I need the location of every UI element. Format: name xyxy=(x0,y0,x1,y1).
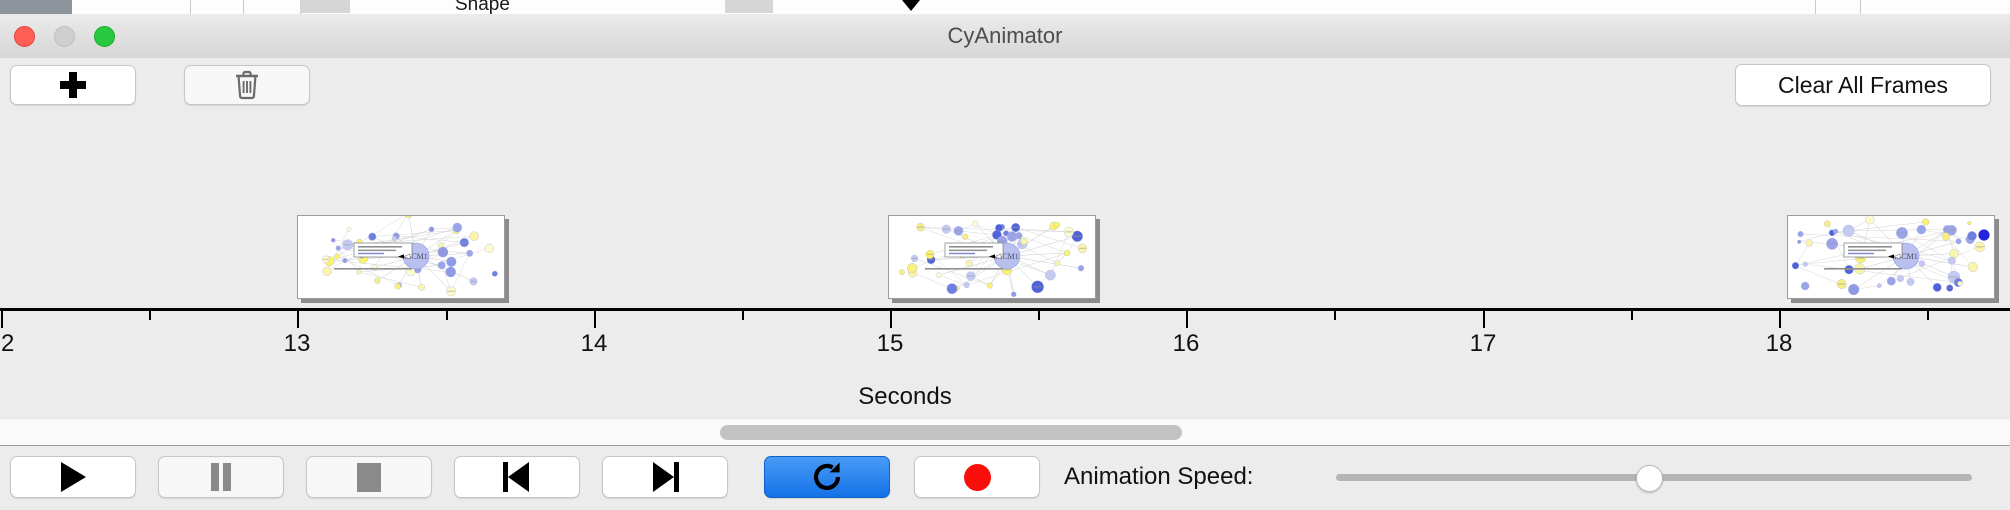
ruler-tick-label: 17 xyxy=(1470,330,1497,358)
record-button[interactable] xyxy=(914,456,1040,498)
axis-title-label: Seconds xyxy=(858,383,951,410)
toolbar: Clear All Frames xyxy=(0,58,2010,112)
horizontal-scrollbar[interactable] xyxy=(0,418,2010,447)
ruler-tick-major xyxy=(1483,311,1485,328)
ruler-tick-minor xyxy=(446,311,448,320)
skip-forward-icon xyxy=(651,462,679,492)
ruler-tick-minor xyxy=(1334,311,1336,320)
cyanimator-window: Shape CyAnimator Clear All Frames MCM1MC… xyxy=(0,0,2010,510)
frames-timeline-area[interactable]: MCM1MCM1MCM1 xyxy=(0,110,2010,310)
timeline-ruler[interactable]: 12131415161718 xyxy=(0,308,2010,370)
pause-icon xyxy=(210,463,232,491)
trash-icon xyxy=(232,69,262,101)
loop-icon xyxy=(810,460,844,494)
background-tab-divider xyxy=(1860,0,1861,14)
ruler-tick-minor xyxy=(1038,311,1040,320)
loop-button[interactable] xyxy=(764,456,890,498)
ruler-tick-major xyxy=(1,311,3,328)
transport-bar: Animation Speed: xyxy=(0,446,2010,510)
ruler-tick-label: 13 xyxy=(284,330,311,358)
background-shape-label: Shape xyxy=(455,0,510,15)
animation-speed-slider-thumb[interactable] xyxy=(1636,465,1663,492)
ruler-tick-label: 16 xyxy=(1173,330,1200,358)
stop-icon xyxy=(357,463,381,492)
delete-frame-button[interactable] xyxy=(184,65,310,105)
timeline-frame[interactable]: MCM1 xyxy=(1787,215,1995,299)
background-tab-divider xyxy=(190,0,191,14)
ruler-tick-label: 12 xyxy=(0,330,14,358)
ruler-baseline xyxy=(0,308,2010,311)
ruler-tick-major xyxy=(1779,311,1781,328)
ruler-tick-label: 18 xyxy=(1766,330,1793,358)
ruler-tick-major xyxy=(890,311,892,328)
background-window-sidebar xyxy=(0,0,72,14)
scrollbar-thumb[interactable] xyxy=(720,425,1182,440)
background-window-strip: Shape xyxy=(0,0,2010,15)
background-tab-divider xyxy=(1815,0,1816,14)
background-cursor-arrow xyxy=(902,0,920,11)
ruler-tick-major xyxy=(594,311,596,328)
animation-speed-label: Animation Speed: xyxy=(1064,456,1253,498)
pause-button[interactable] xyxy=(158,456,284,498)
axis-title: Seconds xyxy=(0,383,2010,411)
background-tab-cell xyxy=(300,0,350,13)
page-title: CyAnimator xyxy=(0,14,2010,58)
ruler-tick-minor xyxy=(1631,311,1633,320)
skip-back-icon xyxy=(503,462,531,492)
title-bar: CyAnimator xyxy=(0,14,2010,59)
ruler-tick-major xyxy=(297,311,299,328)
timeline-frame[interactable]: MCM1 xyxy=(297,215,505,299)
ruler-tick-label: 15 xyxy=(877,330,904,358)
background-tab-divider xyxy=(243,0,244,14)
frame-thumbnail[interactable]: MCM1 xyxy=(888,215,1096,299)
record-icon xyxy=(964,464,991,491)
previous-button[interactable] xyxy=(454,456,580,498)
ruler-tick-label: 14 xyxy=(581,330,608,358)
plus-icon xyxy=(60,72,86,98)
timeline-frame[interactable]: MCM1 xyxy=(888,215,1096,299)
ruler-tick-major xyxy=(1186,311,1188,328)
add-frame-button[interactable] xyxy=(10,65,136,105)
clear-all-frames-button[interactable]: Clear All Frames xyxy=(1735,64,1991,106)
frame-thumbnail[interactable]: MCM1 xyxy=(1787,215,1995,299)
frame-thumbnail[interactable]: MCM1 xyxy=(297,215,505,299)
stop-button[interactable] xyxy=(306,456,432,498)
next-button[interactable] xyxy=(602,456,728,498)
play-button[interactable] xyxy=(10,456,136,498)
play-icon xyxy=(61,462,86,492)
ruler-tick-minor xyxy=(1927,311,1929,320)
ruler-tick-minor xyxy=(149,311,151,320)
background-tab-cell xyxy=(725,0,773,13)
ruler-tick-minor xyxy=(742,311,744,320)
